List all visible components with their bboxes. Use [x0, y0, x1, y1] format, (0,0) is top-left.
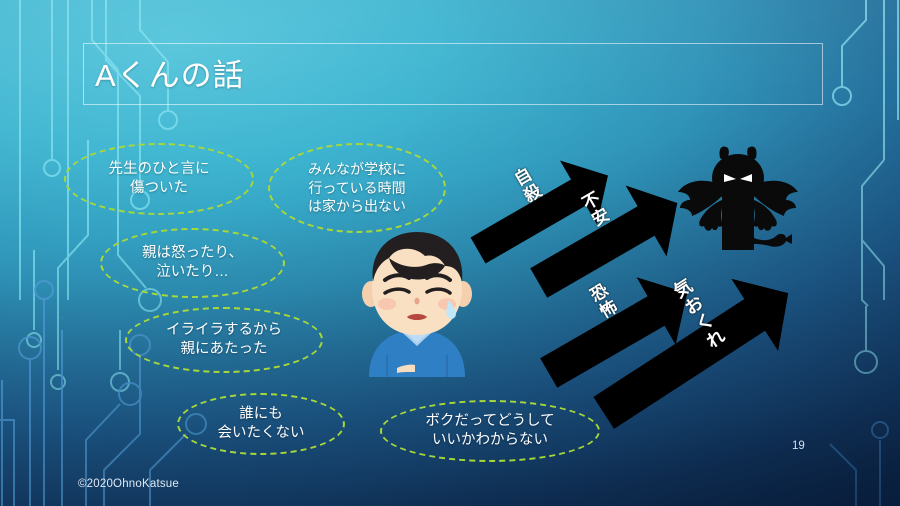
bubble-line: ボクだってどうして [419, 412, 560, 431]
bubble-line: 先生のひと言に [102, 160, 215, 179]
bubble-line: 会いたくない [212, 424, 311, 443]
arrow-timidity: 気おくれ [586, 268, 806, 438]
bubble-irritated-at-parents: イライラするから 親にあたった [125, 307, 323, 373]
bubble-school-time-home: みんなが学校に 行っている時間 は家から出ない [268, 143, 446, 233]
bubble-line: みんなが学校に [302, 160, 412, 178]
bubble-line: は家から出ない [302, 197, 412, 215]
bubble-line: 行っている時間 [302, 179, 412, 197]
devil-silhouette-illustration [668, 142, 808, 282]
bubble-line: 泣いたり… [136, 263, 249, 282]
bubble-parents-angry-crying: 親は怒ったり、 泣いたり… [100, 228, 285, 298]
bubble-teacher-words: 先生のひと言に 傷ついた [64, 143, 254, 215]
bubble-line: 傷ついた [102, 179, 215, 198]
bubble-line: いいかわからない [419, 431, 560, 450]
copyright-text: ©2020OhnoKatsue [78, 478, 179, 490]
bubble-dont-know-what-to-do: ボクだってどうして いいかわからない [380, 400, 600, 462]
bubble-dont-want-to-meet: 誰にも 会いたくない [177, 393, 345, 455]
page-title: Aくんの話 [95, 50, 245, 95]
bubble-line: 親は怒ったり、 [136, 244, 249, 263]
bubble-line: 親にあたった [160, 340, 288, 359]
bubble-line: イライラするから [160, 321, 288, 340]
page-number: 19 [792, 440, 805, 452]
bubble-line: 誰にも [212, 405, 311, 424]
slide-canvas: Aくんの話 先生のひと言に 傷ついた みんなが学校に 行っている時間 は家から出… [0, 0, 900, 506]
